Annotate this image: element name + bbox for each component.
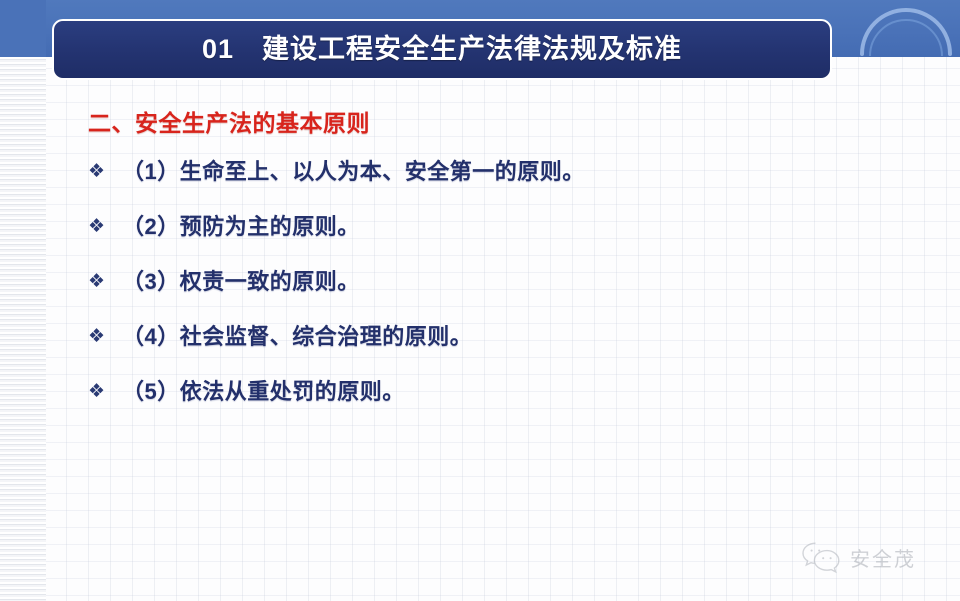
diamond-bullet-icon: ❖	[88, 158, 122, 186]
watermark-label: 安全茂	[850, 543, 916, 572]
diamond-bullet-icon: ❖	[88, 378, 122, 406]
list-item: ❖ （1）生命至上、以人为本、安全第一的原则。	[88, 158, 908, 213]
wechat-icon	[800, 540, 842, 574]
list-item: ❖ （5）依法从重处罚的原则。	[88, 378, 908, 433]
list-item: ❖ （3）权责一致的原则。	[88, 268, 908, 323]
watermark: 安全茂	[800, 535, 950, 579]
slide-body: 二、安全生产法的基本原则 ❖ （1）生命至上、以人为本、安全第一的原则。 ❖ （…	[0, 88, 960, 508]
list-item-label: （3）权责一致的原则。	[122, 268, 360, 296]
diamond-bullet-icon: ❖	[88, 268, 122, 296]
slide-title-plate: 01 建设工程安全生产法律法规及标准	[52, 19, 832, 80]
slide-canvas: 01 建设工程安全生产法律法规及标准 二、安全生产法的基本原则 ❖ （1）生命至…	[0, 0, 960, 601]
list-item: ❖ （4）社会监督、综合治理的原则。	[88, 323, 908, 378]
principles-list: ❖ （1）生命至上、以人为本、安全第一的原则。 ❖ （2）预防为主的原则。 ❖ …	[88, 158, 908, 433]
list-item: ❖ （2）预防为主的原则。	[88, 213, 908, 268]
list-item-label: （5）依法从重处罚的原则。	[122, 378, 405, 406]
left-rail-header-fill	[0, 0, 46, 57]
diamond-bullet-icon: ❖	[88, 213, 122, 241]
page-title: 01 建设工程安全生产法律法规及标准	[202, 36, 682, 63]
section-heading: 二、安全生产法的基本原则	[88, 104, 370, 138]
diamond-bullet-icon: ❖	[88, 323, 122, 351]
list-item-label: （2）预防为主的原则。	[122, 213, 360, 241]
list-item-label: （4）社会监督、综合治理的原则。	[122, 323, 472, 351]
list-item-label: （1）生命至上、以人为本、安全第一的原则。	[122, 158, 585, 186]
